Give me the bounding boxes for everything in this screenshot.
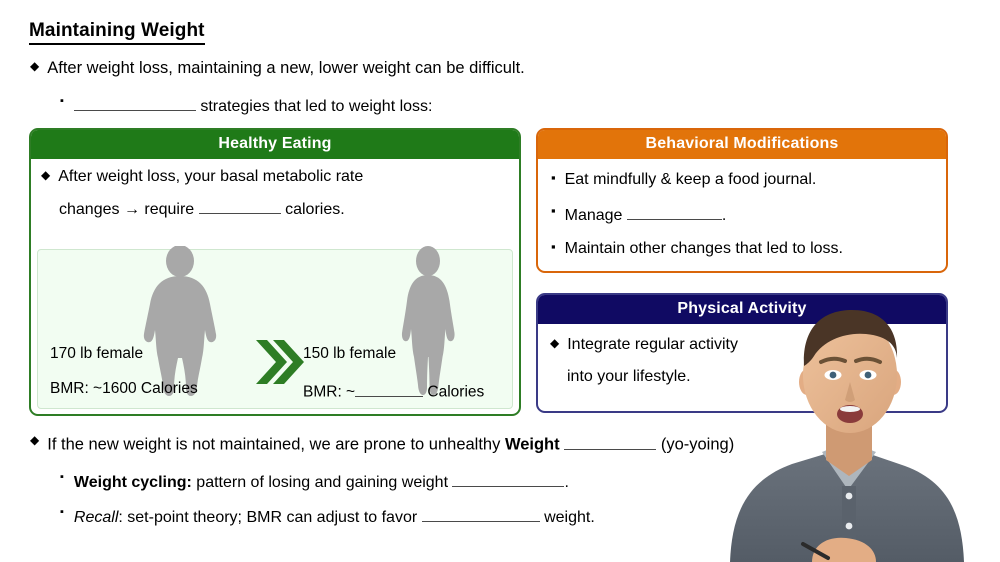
- healthy-eating-line2: changes → require calories.: [59, 197, 509, 220]
- left-figure-weight-label: 170 lb female: [50, 345, 143, 363]
- bullet-level1-1-text: After weight loss, maintaining a new, lo…: [47, 58, 525, 79]
- presenter-button-bottom: [846, 523, 853, 530]
- bottom-bullet-1-text: If the new weight is not maintained, we …: [47, 432, 734, 455]
- bottom-bullet-3-part1: : set-point theory; BMR can adjust to fa…: [118, 509, 421, 526]
- bullet-level2-1-suffix: strategies that led to weight loss:: [200, 98, 432, 115]
- presenter-neck: [826, 420, 872, 476]
- bottom-bullet-1-part2: (yo-yoing): [661, 436, 734, 454]
- behavioral-item-2-text: Manage .: [565, 203, 727, 226]
- healthy-eating-body: ◆ After weight loss, your basal metaboli…: [31, 159, 519, 227]
- physical-activity-line2: into your lifestyle.: [567, 367, 936, 387]
- presenter-button-top: [846, 493, 853, 500]
- square-bullet-icon: ▪: [60, 470, 64, 486]
- physical-activity-body: ◆ Integrate regular activity into your l…: [538, 324, 946, 394]
- square-bullet-icon: ▪: [551, 239, 556, 255]
- behavioral-item-2-pre: Manage: [565, 207, 627, 224]
- bottom-bullet-3-italic: Recall: [74, 509, 118, 526]
- fill-in-blank: [452, 470, 564, 487]
- fill-in-blank: [199, 197, 281, 214]
- bottom-bullet-2-part2: .: [564, 474, 568, 491]
- behavioral-item-3-text: Maintain other changes that led to loss.: [565, 239, 843, 259]
- bottom-bullet-3: ▪ Recall: set-point theory; BMR can adju…: [60, 505, 595, 528]
- healthy-eating-line1-text: After weight loss, your basal metabolic …: [58, 167, 363, 187]
- diamond-bullet-icon: ◆: [550, 335, 559, 352]
- fill-in-blank: [564, 432, 656, 450]
- behavioral-item-2-post: .: [722, 207, 726, 224]
- behavioral-modifications-body: ▪ Eat mindfully & keep a food journal. ▪…: [538, 159, 946, 265]
- bullet-level2-1-text: strategies that led to weight loss:: [74, 94, 433, 117]
- physical-activity-line1: ◆ Integrate regular activity: [550, 335, 936, 355]
- left-figure-bmr-label: BMR: ~1600 Calories: [50, 380, 198, 398]
- fill-in-blank: [627, 203, 722, 220]
- double-chevron-right-icon: [254, 336, 304, 388]
- bullet-level2-1: ▪ strategies that led to weight loss:: [60, 94, 432, 117]
- presenter-pen: [803, 544, 828, 558]
- presenter-placket: [842, 486, 856, 545]
- bottom-bullet-1-part1: If the new weight is not maintained, we …: [47, 436, 505, 454]
- behavioral-modifications-header: Behavioral Modifications: [538, 130, 946, 159]
- right-figure-bmr-pre: BMR: ~: [303, 384, 355, 401]
- presenter-shirt: [730, 454, 964, 562]
- page-title: Maintaining Weight: [29, 20, 205, 45]
- bottom-bullet-3-text: Recall: set-point theory; BMR can adjust…: [74, 505, 595, 528]
- behavioral-item-3: ▪ Maintain other changes that led to los…: [551, 239, 936, 259]
- slide-canvas: Maintaining Weight ◆ After weight loss, …: [0, 0, 1000, 562]
- healthy-eating-header: Healthy Eating: [31, 130, 519, 159]
- physical-activity-line1-text: Integrate regular activity: [567, 335, 738, 355]
- silhouette-heavier-icon: [134, 246, 226, 398]
- behavioral-item-1-text: Eat mindfully & keep a food journal.: [565, 170, 817, 190]
- bottom-bullet-1-bold: Weight: [505, 436, 560, 454]
- right-figure-bmr-label: BMR: ~ Calories: [303, 380, 484, 402]
- bottom-bullet-1: ◆ If the new weight is not maintained, w…: [30, 432, 734, 455]
- diamond-bullet-icon: ◆: [30, 432, 39, 449]
- healthy-eating-box: Healthy Eating ◆ After weight loss, your…: [29, 128, 521, 416]
- silhouette-slimmer-icon: [388, 246, 468, 398]
- bottom-bullet-2-part1: pattern of losing and gaining weight: [192, 474, 453, 491]
- fill-in-blank: [74, 94, 196, 111]
- square-bullet-icon: ▪: [551, 170, 556, 186]
- square-bullet-icon: ▪: [551, 203, 556, 219]
- behavioral-item-2: ▪ Manage .: [551, 203, 936, 226]
- physical-activity-header: Physical Activity: [538, 295, 946, 324]
- bottom-bullet-3-part2: weight.: [540, 509, 595, 526]
- bottom-bullet-2: ▪ Weight cycling: pattern of losing and …: [60, 470, 569, 493]
- bullet-level1-1: ◆ After weight loss, maintaining a new, …: [30, 58, 525, 79]
- diamond-bullet-icon: ◆: [30, 58, 39, 75]
- healthy-eating-line1: ◆ After weight loss, your basal metaboli…: [41, 167, 509, 187]
- bottom-bullet-2-text: Weight cycling: pattern of losing and ga…: [74, 470, 569, 493]
- physical-activity-box: Physical Activity ◆ Integrate regular ac…: [536, 293, 948, 413]
- bottom-bullet-2-bold: Weight cycling:: [74, 474, 192, 491]
- presenter-hands: [812, 538, 876, 562]
- healthy-eating-line2-post: calories.: [281, 201, 345, 218]
- right-figure-weight-label: 150 lb female: [303, 345, 396, 363]
- diamond-bullet-icon: ◆: [41, 167, 50, 184]
- right-figure-bmr-post: Calories: [423, 384, 484, 401]
- fill-in-blank: [422, 505, 540, 522]
- behavioral-item-1: ▪ Eat mindfully & keep a food journal.: [551, 170, 936, 190]
- fill-in-blank: [355, 380, 423, 397]
- presenter-collar: [822, 448, 876, 490]
- healthy-eating-line2-pre: changes → require: [59, 201, 199, 218]
- bmr-comparison-panel: 170 lb female BMR: ~1600 Calories 150 lb…: [37, 249, 513, 409]
- behavioral-modifications-box: Behavioral Modifications ▪ Eat mindfully…: [536, 128, 948, 273]
- square-bullet-icon: ▪: [60, 505, 64, 521]
- square-bullet-icon: ▪: [60, 94, 64, 110]
